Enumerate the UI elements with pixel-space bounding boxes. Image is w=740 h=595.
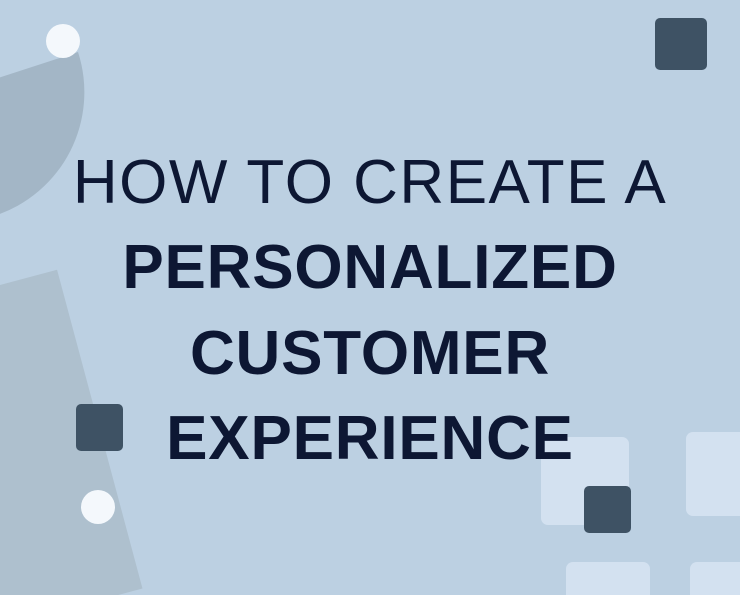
headline-line-3: CUSTOMER	[190, 323, 550, 384]
headline-block: HOW TO CREATE A PERSONALIZED CUSTOMER EX…	[0, 0, 740, 595]
headline-line-4: EXPERIENCE	[166, 408, 574, 469]
poster-canvas: HOW TO CREATE A PERSONALIZED CUSTOMER EX…	[0, 0, 740, 595]
headline-line-1: HOW TO CREATE A	[73, 152, 667, 213]
headline-line-2: PERSONALIZED	[122, 237, 617, 298]
